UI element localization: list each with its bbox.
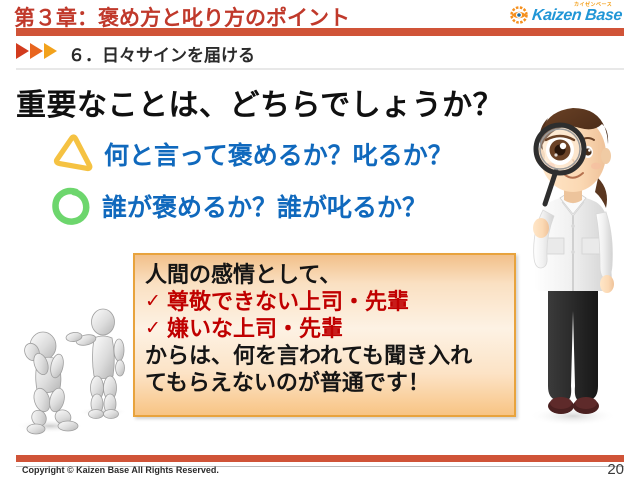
callout-check-item-1: ✓ 尊敬できない上司・先輩 (145, 288, 506, 315)
bullet-item-2-label: 誰が褒めるか？誰が叱るか？ (102, 188, 427, 224)
slide: 第３章：褒め方と叱り方のポイント カイゼンベース Kaizen Base ６．日… (0, 0, 640, 480)
callout-box: 人間の感情として、 ✓ 尊敬できない上司・先輩 ✓ 嫌いな上司・先輩 からは、何… (133, 253, 516, 417)
callout-outro-line-1: からは、何を言われても聞き入れ (145, 342, 506, 369)
copyright-text: Copyright © Kaizen Base All Rights Reser… (22, 465, 219, 475)
person-with-magnifying-glass-illustration (510, 86, 636, 434)
bullet-item-1: 何と言って褒めるか？叱るか？ (50, 132, 453, 176)
bullet-item-1-label: 何と言って褒めるか？叱るか？ (104, 136, 453, 172)
triangle-outline-icon (50, 132, 96, 176)
check-mark-icon: ✓ (145, 315, 167, 342)
footer-accent-bar (16, 455, 624, 462)
bullet-item-2: 誰が褒めるか？誰が叱るか？ (48, 184, 427, 228)
subheading-divider (16, 68, 624, 70)
logo-wordmark: Kaizen Base (531, 7, 623, 25)
subheading-text: ６．日々サインを届ける (68, 41, 255, 66)
circle-outline-icon (48, 184, 94, 228)
check-mark-icon: ✓ (145, 288, 167, 315)
page-title: 重要なことは、どちらでしょうか？ (16, 80, 503, 124)
page-number: 20 (607, 461, 624, 478)
header-accent-bar (16, 28, 624, 36)
callout-check-item-1-label: 尊敬できない上司・先輩 (167, 288, 409, 315)
callout-check-item-2-label: 嫌いな上司・先輩 (167, 315, 343, 342)
triple-chevron-icon (16, 42, 62, 60)
callout-check-item-2: ✓ 嫌いな上司・先輩 (145, 315, 506, 342)
callout-intro: 人間の感情として、 (145, 261, 506, 288)
callout-outro-line-2: てもらえないのが普通です！ (145, 369, 506, 396)
kaizen-base-logo: カイゼンベース Kaizen Base (500, 1, 632, 29)
two-mannequins-scolding-illustration (8, 300, 138, 440)
gear-eye-icon (508, 4, 530, 26)
